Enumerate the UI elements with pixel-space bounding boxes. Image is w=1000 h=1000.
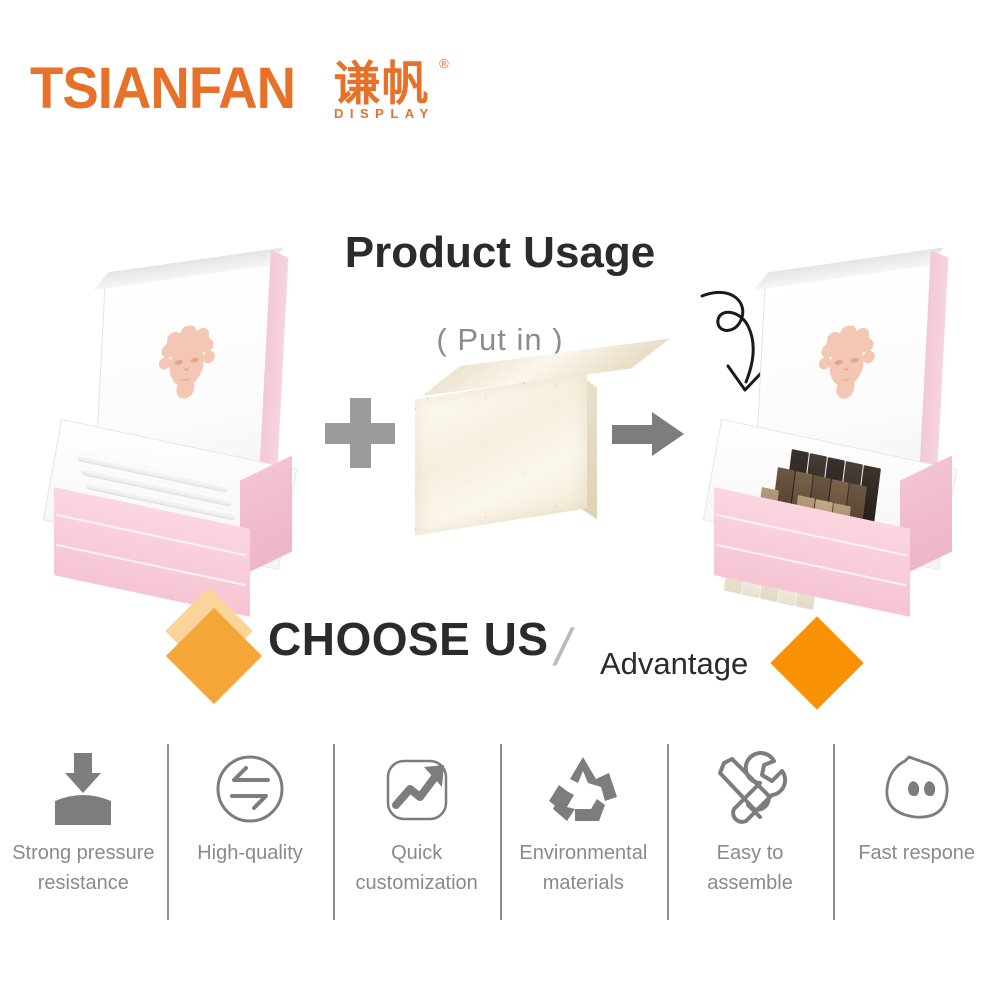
registered-trademark-icon: ®	[439, 56, 449, 71]
speech-bubble-icon	[875, 746, 959, 832]
feature-item-environmental-materials: Environmentalmaterials	[500, 742, 667, 928]
tools-icon	[708, 746, 792, 832]
marble-sample-tile	[415, 372, 605, 522]
brand-chinese-block: 谦帆 DISPLAY ®	[328, 60, 435, 121]
right-arrow-icon	[612, 412, 684, 456]
feature-item-quick-customization: Quickcustomization	[333, 742, 500, 928]
plus-icon	[325, 398, 395, 468]
growth-chart-icon	[376, 746, 458, 832]
feature-label: Quickcustomization	[352, 838, 482, 898]
advantage-label: Advantage	[600, 646, 748, 682]
brand-chinese-name: 谦帆	[333, 60, 429, 109]
sculpture-face-icon	[153, 321, 221, 405]
feature-label: Environmentalmaterials	[515, 838, 651, 898]
feature-item-pressure-resistance: Strong pressureresistance	[0, 742, 167, 928]
recycle-icon	[541, 746, 625, 832]
tile-front-face	[415, 372, 587, 535]
sculpture-face-icon	[813, 321, 881, 405]
feature-list: Strong pressureresistance High-quality Q…	[0, 742, 1000, 928]
brand-logo: TSIANFAN 谦帆 DISPLAY ®	[30, 60, 435, 121]
brand-subtitle: DISPLAY	[328, 106, 435, 121]
feature-item-fast-response: Fast respone	[833, 742, 1000, 928]
pressure-resistance-icon	[39, 746, 127, 832]
feature-item-high-quality: High-quality	[167, 742, 334, 928]
feature-label: Easy toassemble	[703, 838, 797, 898]
feature-item-easy-to-assemble: Easy toassemble	[667, 742, 834, 928]
feature-label: Strong pressureresistance	[8, 838, 158, 898]
feature-label: Fast respone	[854, 838, 979, 868]
exchange-quality-icon	[210, 746, 290, 832]
brand-wordmark: TSIANFAN	[30, 60, 295, 118]
feature-label: High-quality	[193, 838, 307, 868]
empty-display-box	[40, 272, 300, 602]
choose-us-title: CHOOSE US	[268, 612, 549, 666]
filled-display-box	[700, 272, 960, 602]
